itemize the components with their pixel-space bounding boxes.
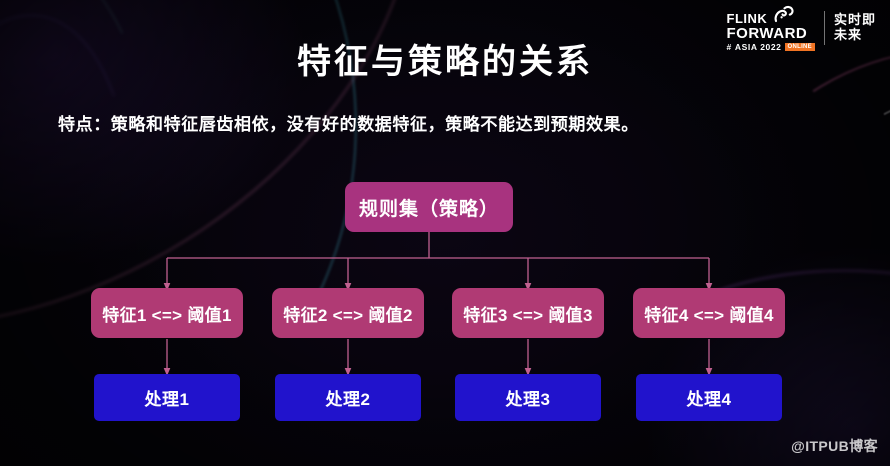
node-condition-1[interactable]: 特征1 <=> 阈值1 <box>91 288 243 338</box>
tree-diagram: 规则集（策略） 特征1 <=> 阈值1 特征2 <=> 阈值2 特征3 <=> … <box>0 0 890 466</box>
node-action-3[interactable]: 处理3 <box>455 374 601 421</box>
node-condition-2[interactable]: 特征2 <=> 阈值2 <box>272 288 424 338</box>
slide-canvas: FLINK FORWARD # ASIA 2022 ONLINE 实时即 未来 <box>0 0 890 466</box>
node-action-1[interactable]: 处理1 <box>94 374 240 421</box>
node-action-2[interactable]: 处理2 <box>275 374 421 421</box>
node-root-ruleset[interactable]: 规则集（策略） <box>345 182 513 232</box>
node-condition-3[interactable]: 特征3 <=> 阈值3 <box>452 288 604 338</box>
watermark-itpub: @ITPUB博客 <box>791 436 878 456</box>
node-action-4[interactable]: 处理4 <box>636 374 782 421</box>
node-condition-4[interactable]: 特征4 <=> 阈值4 <box>633 288 785 338</box>
